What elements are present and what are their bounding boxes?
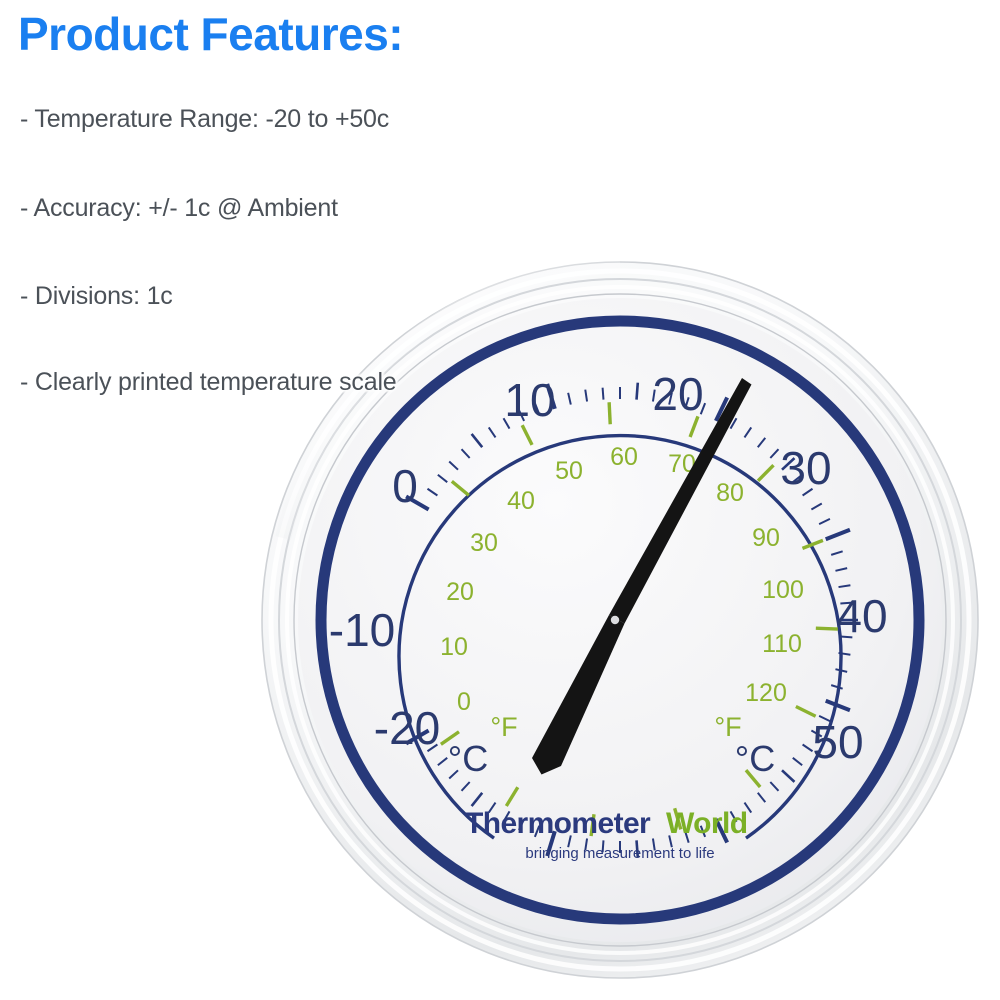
feature-item-accuracy: - Accuracy: +/- 1c @ Ambient <box>20 194 338 223</box>
label-f-110: 110 <box>762 630 802 658</box>
label-f-20: 20 <box>446 578 474 606</box>
label-f-90: 90 <box>752 524 780 552</box>
label-f-120: 120 <box>745 679 787 707</box>
label-c-20: 20 <box>652 368 703 420</box>
page-title: Product Features: <box>18 10 618 58</box>
label-c-50: 50 <box>812 716 863 768</box>
features-text-block: Product Features: - Temperature Range: -… <box>18 10 618 58</box>
label-c-30: 30 <box>780 442 831 494</box>
feature-item-printed-scale: - Clearly printed temperature scale <box>20 368 397 397</box>
unit-fahrenheit-right: °F <box>714 712 741 742</box>
unit-fahrenheit-left: °F <box>490 712 517 742</box>
label-f-80: 80 <box>716 479 744 507</box>
brand-name-part1: Thermometer <box>465 807 651 840</box>
label-c-0: 0 <box>392 460 418 512</box>
label-f-10: 10 <box>440 633 468 661</box>
brand-name-part2: World <box>666 807 747 840</box>
label-f-100: 100 <box>762 576 804 604</box>
label-c--10: -10 <box>329 604 395 656</box>
label-f-0: 0 <box>457 688 471 716</box>
thermometer-svg: -20 -10 0 10 20 30 40 50 °C °C 0 10 20 3… <box>258 258 982 982</box>
label-f-30: 30 <box>470 529 498 557</box>
label-c-40: 40 <box>836 590 887 642</box>
feature-item-temperature-range: - Temperature Range: -20 to +50c <box>20 105 389 134</box>
needle-pivot <box>611 616 619 624</box>
label-f-50: 50 <box>555 457 583 485</box>
product-feature-image: -20 -10 0 10 20 30 40 50 °C °C 0 10 20 3… <box>0 0 1000 1000</box>
unit-celsius-left: °C <box>448 738 488 779</box>
label-c-10: 10 <box>504 374 555 426</box>
label-f-40: 40 <box>507 487 535 515</box>
label-c--20: -20 <box>374 702 440 754</box>
feature-item-divisions: - Divisions: 1c <box>20 282 173 311</box>
label-f-60: 60 <box>610 443 638 471</box>
brand-tagline: bringing measurement to life <box>525 845 714 862</box>
dial-thermometer: -20 -10 0 10 20 30 40 50 °C °C 0 10 20 3… <box>258 258 982 982</box>
unit-celsius-right: °C <box>735 738 775 779</box>
